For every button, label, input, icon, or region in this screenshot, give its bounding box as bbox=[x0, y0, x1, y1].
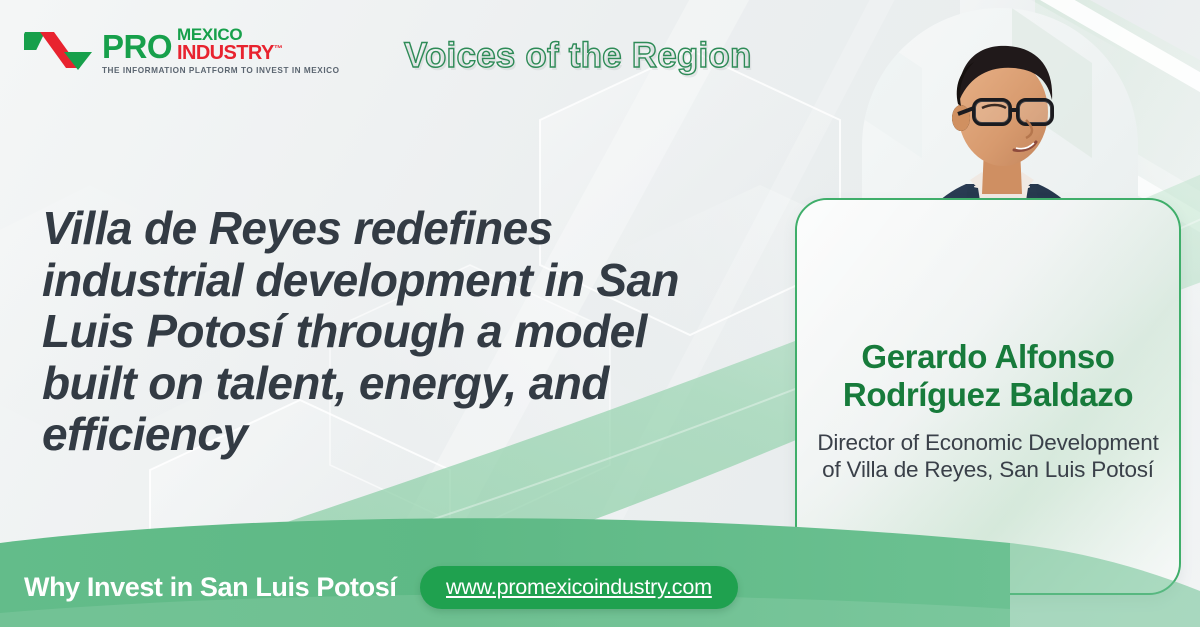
brand-logo[interactable]: PRO MEXICO INDUSTRY™ THE INFORMATION PLA… bbox=[24, 26, 334, 90]
logo-tagline: THE INFORMATION PLATFORM TO INVEST IN ME… bbox=[102, 66, 334, 75]
speaker-role: Director of Economic Development of Vill… bbox=[809, 429, 1167, 483]
logo-industry-text: INDUSTRY™ bbox=[177, 43, 282, 63]
series-kicker-title: Voices of the Region bbox=[404, 36, 752, 76]
footer-label: Why Invest in San Luis Potosí bbox=[24, 572, 396, 603]
website-url-pill[interactable]: www.promexicoindustry.com bbox=[420, 566, 738, 609]
speaker-card: Gerardo Alfonso Rodríguez Baldazo Direct… bbox=[795, 198, 1181, 595]
promexico-chevron-logo-icon bbox=[24, 30, 96, 70]
trademark-symbol: ™ bbox=[274, 43, 282, 53]
headline: Villa de Reyes redefines industrial deve… bbox=[42, 203, 732, 461]
promotional-banner: PRO MEXICO INDUSTRY™ THE INFORMATION PLA… bbox=[0, 0, 1200, 627]
logo-pro-text: PRO bbox=[102, 30, 172, 63]
logo-mexico-text: MEXICO bbox=[177, 26, 282, 43]
brand-logo-text: PRO MEXICO INDUSTRY™ THE INFORMATION PLA… bbox=[102, 26, 334, 75]
speaker-info: Gerardo Alfonso Rodríguez Baldazo Direct… bbox=[797, 338, 1179, 483]
speaker-name: Gerardo Alfonso Rodríguez Baldazo bbox=[809, 338, 1167, 413]
